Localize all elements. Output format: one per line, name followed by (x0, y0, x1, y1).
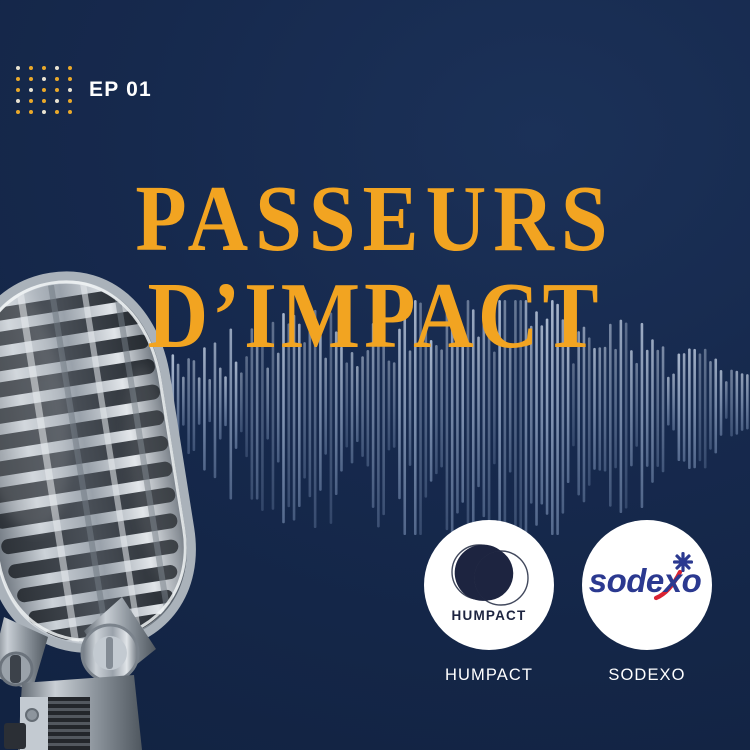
partner-humpact: HUMPACT HUMPACT (424, 520, 554, 685)
humpact-logo-icon: HUMPACT (424, 520, 554, 650)
dot-grid-icon (14, 64, 73, 115)
podcast-cover-art: EP 01 PASSEURS D’IMPACT HUMPACT HUMPACT (0, 0, 750, 750)
partner-sodexo-label: SODEXO (608, 666, 685, 685)
vintage-microphone-icon (0, 245, 210, 750)
partner-humpact-label: HUMPACT (445, 666, 533, 685)
partner-logos: HUMPACT HUMPACT sodexo (408, 520, 728, 685)
sodexo-badge: sodexo (582, 520, 712, 650)
episode-badge: EP 01 (14, 64, 152, 115)
humpact-badge: HUMPACT (424, 520, 554, 650)
partner-sodexo: sodexo SODEXO (582, 520, 712, 685)
episode-label: EP 01 (89, 78, 152, 102)
humpact-wordmark: HUMPACT (452, 608, 527, 623)
sodexo-wordmark: sodexo (589, 562, 702, 599)
audio-waveform-icon (128, 300, 750, 535)
sodexo-logo-icon: sodexo (582, 520, 712, 650)
